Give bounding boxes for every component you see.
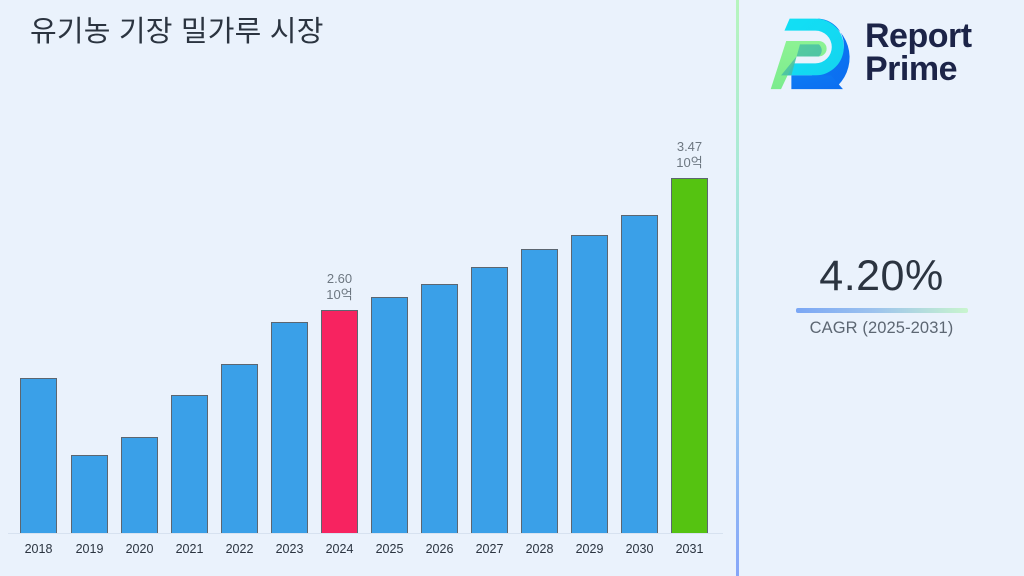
x-axis-tick-2020: 2020 bbox=[113, 542, 166, 556]
bar-2030[interactable] bbox=[621, 215, 658, 533]
chart-panel: 유기농 기장 밀가루 시장 2.6010억3.4710억 20182019202… bbox=[0, 0, 737, 576]
bar-value-unit-2031: 10억 bbox=[654, 155, 725, 171]
cagr-divider-rule bbox=[796, 308, 968, 313]
x-axis-tick-2029: 2029 bbox=[563, 542, 616, 556]
bar-2019[interactable] bbox=[71, 455, 108, 533]
x-axis-tick-2021: 2021 bbox=[163, 542, 216, 556]
brand-panel: Report Prime 4.20% CAGR (2025-2031) bbox=[739, 0, 1024, 576]
bar-value-label-2031: 3.4710억 bbox=[654, 139, 725, 171]
bar-2023[interactable] bbox=[271, 322, 308, 533]
bar-2031[interactable] bbox=[671, 178, 708, 533]
bar-value-number-2024: 2.60 bbox=[304, 271, 375, 287]
x-axis-tick-2024: 2024 bbox=[313, 542, 366, 556]
cagr-value: 4.20% bbox=[739, 252, 1024, 301]
x-axis-tick-2026: 2026 bbox=[413, 542, 466, 556]
x-axis-tick-2030: 2030 bbox=[613, 542, 666, 556]
bar-2026[interactable] bbox=[421, 284, 458, 533]
report-prime-logo-icon bbox=[769, 10, 855, 96]
brand-name-line2: Prime bbox=[865, 53, 972, 86]
bar-value-label-2024: 2.6010억 bbox=[304, 271, 375, 303]
bar-value-unit-2024: 10억 bbox=[304, 287, 375, 303]
x-axis-line bbox=[8, 533, 723, 534]
x-axis-tick-2025: 2025 bbox=[363, 542, 416, 556]
bar-2022[interactable] bbox=[221, 364, 258, 533]
bar-2027[interactable] bbox=[471, 267, 508, 533]
bar-2020[interactable] bbox=[121, 437, 158, 533]
brand-name-line1: Report bbox=[865, 20, 972, 53]
x-axis-tick-2027: 2027 bbox=[463, 542, 516, 556]
brand-logo: Report Prime bbox=[769, 10, 972, 96]
x-axis-tick-2031: 2031 bbox=[663, 542, 716, 556]
bar-2028[interactable] bbox=[521, 249, 558, 533]
x-axis-tick-2019: 2019 bbox=[63, 542, 116, 556]
chart-screenshot: 유기농 기장 밀가루 시장 2.6010억3.4710억 20182019202… bbox=[0, 0, 1024, 576]
bar-2024[interactable] bbox=[321, 310, 358, 533]
bar-2018[interactable] bbox=[20, 378, 57, 533]
x-axis-tick-2022: 2022 bbox=[213, 542, 266, 556]
x-axis-tick-2023: 2023 bbox=[263, 542, 316, 556]
bar-2029[interactable] bbox=[571, 235, 608, 533]
x-axis-tick-2018: 2018 bbox=[12, 542, 65, 556]
brand-wordmark: Report Prime bbox=[865, 20, 972, 87]
bar-2025[interactable] bbox=[371, 297, 408, 533]
bar-value-number-2031: 3.47 bbox=[654, 139, 725, 155]
cagr-block: 4.20% CAGR (2025-2031) bbox=[739, 252, 1024, 338]
bar-2021[interactable] bbox=[171, 395, 208, 533]
plot-area: 2.6010억3.4710억 bbox=[0, 0, 737, 534]
x-axis-tick-2028: 2028 bbox=[513, 542, 566, 556]
cagr-caption: CAGR (2025-2031) bbox=[739, 319, 1024, 338]
